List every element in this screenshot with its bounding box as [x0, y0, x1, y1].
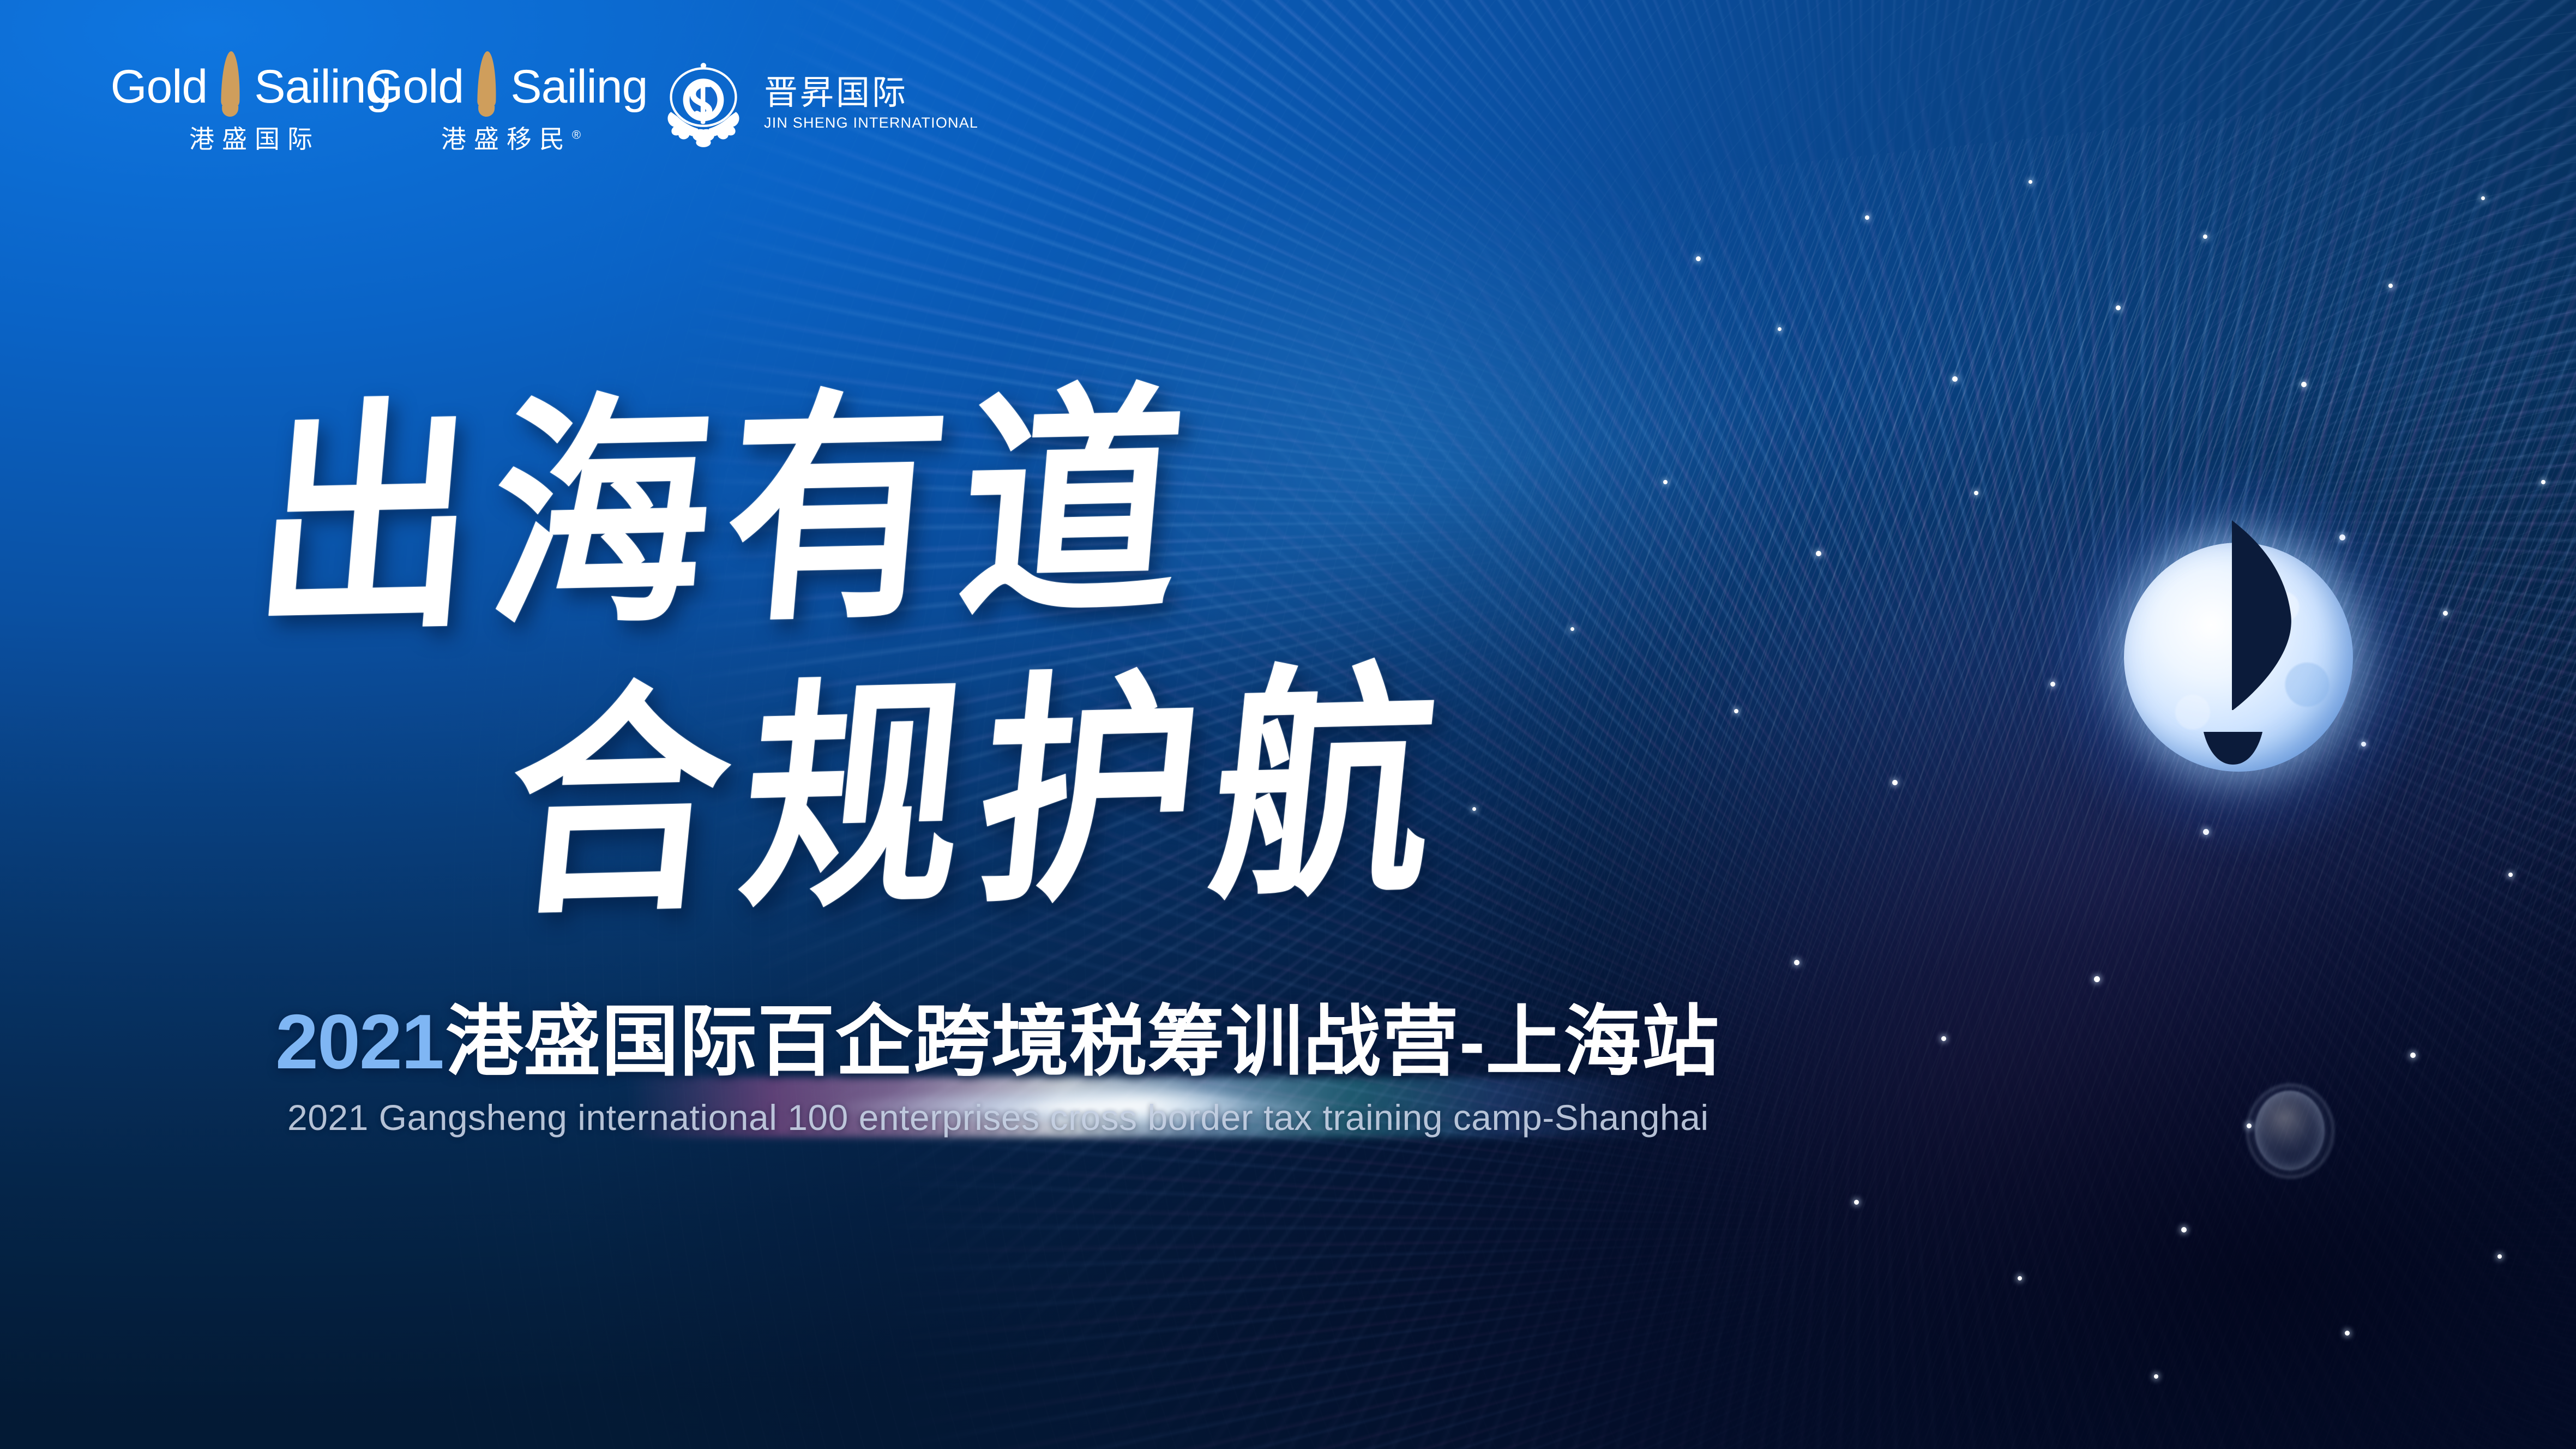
- jinsheng-english-name: JIN SHENG INTERNATIONAL: [764, 114, 978, 131]
- background-tint-violet: [1594, 491, 2576, 1309]
- background-swirl-lower: [652, 0, 2576, 1449]
- logo-chinese-name: 港盛移民®: [434, 119, 581, 155]
- subtitle-english: 2021 Gangsheng international 100 enterpr…: [287, 1099, 1709, 1135]
- logo-chinese-text: 港盛移民: [441, 125, 572, 153]
- sail-icon: [477, 51, 497, 109]
- logo-jin-sheng-international[interactable]: 晋昇国际 JIN SHENG INTERNATIONAL: [657, 57, 978, 150]
- moon-glow: [2042, 461, 2435, 853]
- logo-wordmark-left: Gold: [111, 63, 208, 110]
- logo-wordmark: Gold Sailing: [367, 57, 648, 116]
- jinsheng-chinese-name: 晋昇国际: [764, 75, 978, 111]
- headline-calligraphy: 出海有道 合规护航: [267, 324, 1740, 995]
- subtitle-chinese: 2021港盛国际百企跨境税筹训战营-上海站: [275, 1003, 1719, 1081]
- headline-line-1: 出海有道: [244, 305, 1213, 678]
- headline-line-2: 合规护航: [494, 585, 1469, 961]
- bubble-orb-ring: [2247, 1084, 2334, 1178]
- jinsheng-text: 晋昇国际 JIN SHENG INTERNATIONAL: [764, 75, 978, 131]
- sailboat-icon: [2151, 518, 2315, 774]
- sparkle-particles: [0, 0, 2576, 1449]
- bubble-orb: [2255, 1091, 2325, 1170]
- logo-bar: Gold Sailing 港盛国际 Gold Sailing 港盛移民®: [123, 57, 978, 155]
- logo-gold-sailing-guoji[interactable]: Gold Sailing 港盛国际: [123, 57, 379, 155]
- background-tint-cyan: [995, 153, 1813, 753]
- moon-icon: [2124, 543, 2353, 772]
- jinsheng-emblem-icon: [657, 57, 750, 150]
- logo-wordmark-right: Sailing: [510, 63, 647, 110]
- registered-mark: ®: [572, 128, 581, 142]
- background-swirl-upper: [512, 0, 2576, 1449]
- logo-wordmark: Gold Sailing: [111, 57, 392, 116]
- logo-chinese-name: 港盛国际: [182, 119, 320, 155]
- moon-disc: [2124, 543, 2353, 772]
- logo-gold-sailing-yimin[interactable]: Gold Sailing 港盛移民®: [379, 57, 635, 155]
- background-arc-streaks: [449, 0, 2576, 1449]
- background-streak-band: [1306, 66, 2576, 1449]
- subtitle-year: 2021: [275, 999, 443, 1085]
- sail-icon: [221, 51, 240, 109]
- event-banner: Gold Sailing 港盛国际 Gold Sailing 港盛移民®: [0, 0, 2576, 1449]
- logo-wordmark-left: Gold: [367, 63, 464, 110]
- background-vignette: [0, 0, 2576, 1449]
- background-tint-magenta: [1605, 818, 2369, 1363]
- subtitle-chinese-text: 港盛国际百企跨境税筹训战营-上海站: [446, 999, 1719, 1085]
